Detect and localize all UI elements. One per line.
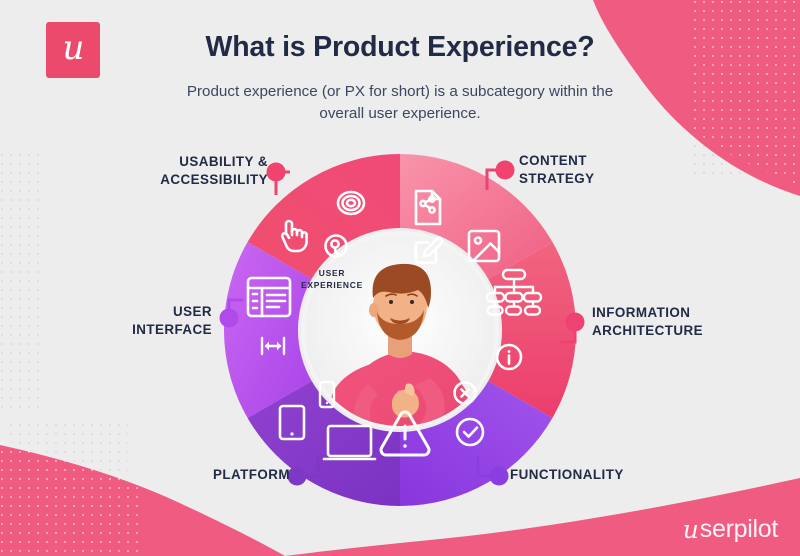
page-title: What is Product Experience? <box>0 31 800 64</box>
label-platform[interactable]: PLATFORM <box>186 466 290 484</box>
center-label-line1: USER <box>319 268 345 278</box>
footer-brand-logo: u serpilot <box>683 517 778 542</box>
label-usability-accessibility[interactable]: USABILITY & ACCESSIBILITY <box>134 153 268 189</box>
infographic-canvas: u What is Product Experience? Product ex… <box>0 0 800 556</box>
label-user-interface[interactable]: USER INTERFACE <box>112 303 212 339</box>
svg-text:u: u <box>397 388 403 399</box>
label-functionality[interactable]: FUNCTIONALITY <box>510 466 690 484</box>
label-information-architecture[interactable]: INFORMATION ARCHITECTURE <box>592 304 772 340</box>
product-experience-donut: u USER EXPERIENCE <box>216 146 584 514</box>
footer-brand-mark: u <box>683 517 699 542</box>
center-label-line2: EXPERIENCE <box>301 280 363 290</box>
label-content-strategy[interactable]: CONTENT STRATEGY <box>519 152 679 188</box>
footer-brand-word: serpilot <box>700 517 778 542</box>
page-subtitle: Product experience (or PX for short) is … <box>170 81 630 124</box>
